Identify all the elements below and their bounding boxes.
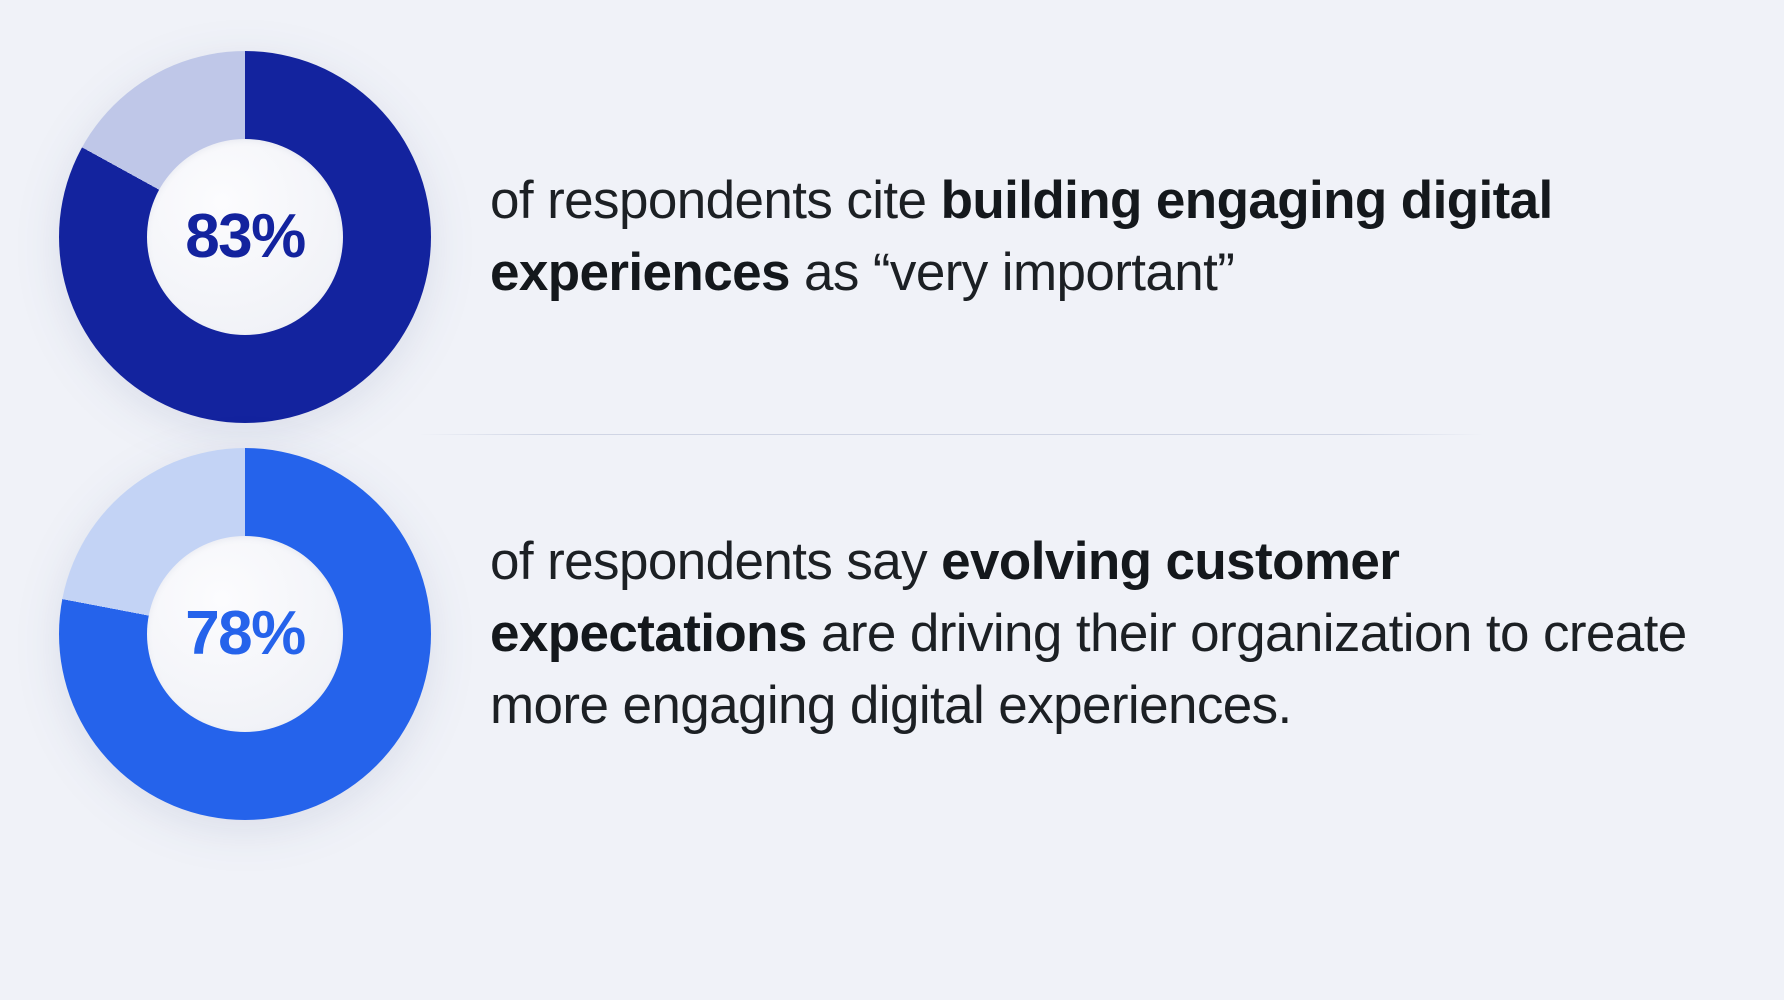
chart-slot-83: 83% bbox=[0, 40, 490, 434]
donut-chart-83: 83% bbox=[59, 51, 431, 423]
text-slot-78: of respondents say evolving customer exp… bbox=[490, 526, 1784, 742]
chart-slot-78: 78% bbox=[0, 434, 490, 834]
stat-row-78: 78% of respondents say evolving customer… bbox=[0, 434, 1784, 834]
donut-value-78: 78% bbox=[185, 603, 305, 665]
text-slot-83: of respondents cite building engaging di… bbox=[490, 165, 1784, 309]
stat-description-83: of respondents cite building engaging di… bbox=[490, 165, 1694, 309]
donut-hole-78: 78% bbox=[147, 536, 343, 732]
donut-value-83: 83% bbox=[185, 206, 305, 268]
donut-hole-83: 83% bbox=[147, 139, 343, 335]
stat-row-83: 83% of respondents cite building engagin… bbox=[0, 40, 1784, 434]
donut-chart-78: 78% bbox=[59, 448, 431, 820]
stat-description-78: of respondents say evolving customer exp… bbox=[490, 526, 1694, 742]
infographic-root: 83% of respondents cite building engagin… bbox=[0, 0, 1784, 1000]
